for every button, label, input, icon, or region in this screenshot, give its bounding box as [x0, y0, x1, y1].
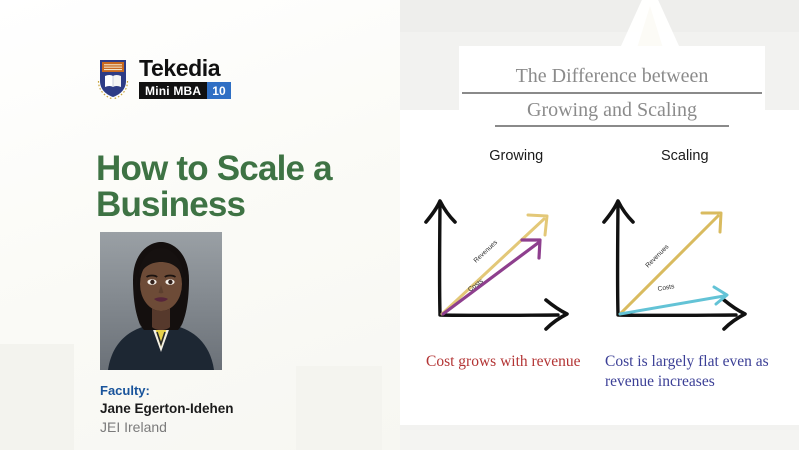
chart-label-growing: Growing: [432, 148, 601, 164]
background-top-band: [380, 0, 799, 32]
background-bottom-band: [380, 430, 799, 450]
panel-heading-line1: The Difference between: [462, 62, 762, 94]
badge-cohort-number: 10: [207, 82, 230, 99]
faculty-info: Faculty: Jane Egerton-Idehen JEI Ireland: [100, 382, 234, 437]
chart-growing: Revenues Costs: [418, 186, 593, 336]
panel-heading: The Difference between Growing and Scali…: [462, 62, 762, 127]
shield-book-crest-icon: [96, 57, 130, 99]
caption-growing: Cost grows with revenue: [426, 352, 586, 372]
decorative-block-center: [296, 366, 382, 450]
brand-name: Tekedia: [139, 57, 231, 80]
page-title-line1: How to Scale a: [96, 149, 332, 188]
series-label-costs: Costs: [657, 283, 676, 293]
caption-scaling: Cost is largely flat even as revenue inc…: [605, 352, 780, 393]
chart-column-labels: Growing Scaling: [400, 148, 799, 164]
chart-label-scaling: Scaling: [601, 148, 770, 164]
brand-text: Tekedia Mini MBA 10: [139, 57, 231, 99]
chart-scaling: Revenues Costs: [596, 186, 771, 336]
faculty-organization: JEI Ireland: [100, 418, 234, 437]
slide-canvas: Tekedia Mini MBA 10 How to Scale a Busin…: [0, 0, 799, 450]
faculty-label: Faculty:: [100, 382, 234, 400]
brand-logo: Tekedia Mini MBA 10: [96, 57, 231, 99]
page-title-line2: Business: [96, 187, 396, 223]
charts-area: Revenues Costs Revenues Costs: [400, 186, 799, 336]
series-label-revenues: Revenues: [473, 239, 500, 265]
badge-program-label: Mini MBA: [139, 82, 207, 99]
panel-heading-line2: Growing and Scaling: [495, 96, 729, 128]
faculty-portrait-photo: [100, 232, 222, 370]
decorative-block-left: [0, 344, 74, 450]
page-title: How to Scale a Business: [96, 151, 396, 222]
brand-badge: Mini MBA 10: [139, 82, 231, 99]
faculty-name: Jane Egerton-Idehen: [100, 400, 234, 418]
